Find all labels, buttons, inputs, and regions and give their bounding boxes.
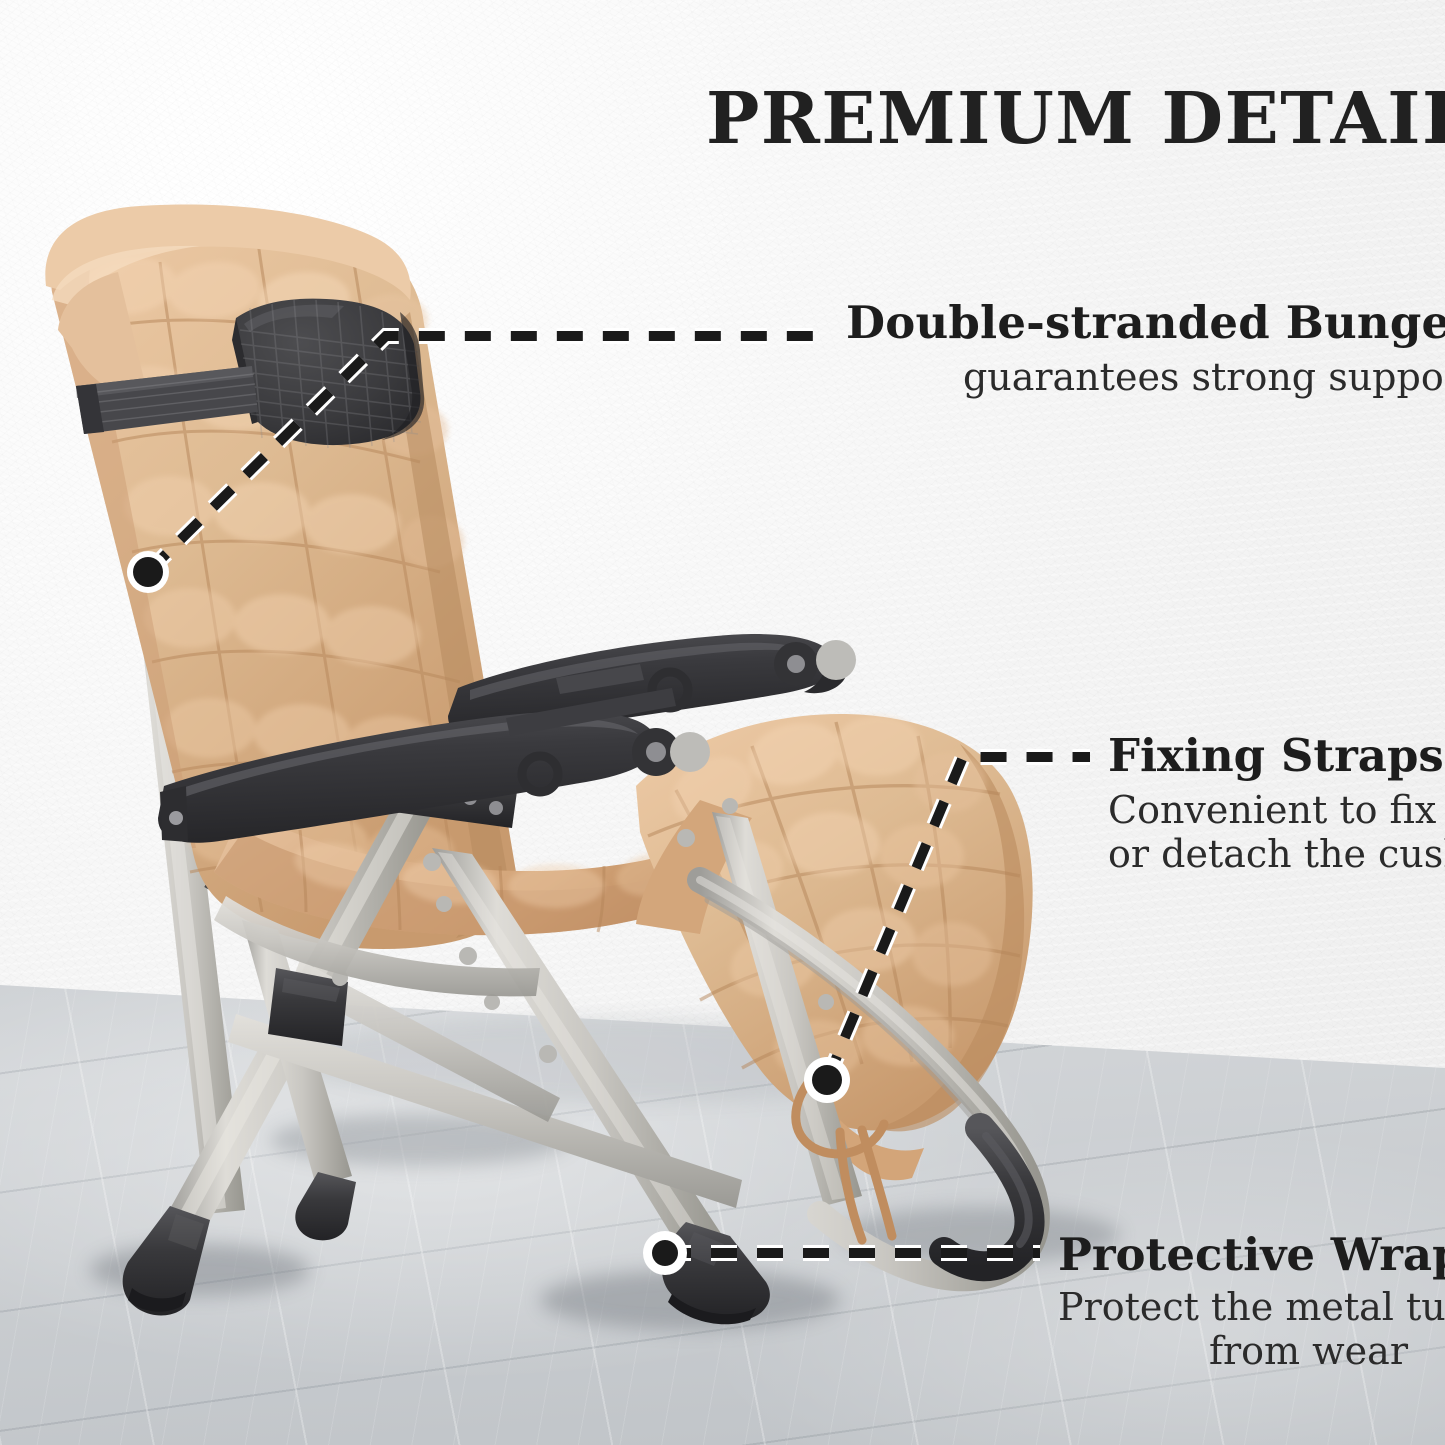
- infographic-canvas: PREMIUM DETAILS Double-stranded Bungee g…: [0, 0, 1445, 1445]
- callout-title-protective-wraps: Protective Wraps: [1058, 1232, 1408, 1279]
- callout-fixing-straps: Fixing Straps Convenient to fix or detac…: [1108, 733, 1408, 877]
- protective-foot-cap-rear-left: [295, 1172, 356, 1240]
- callout-double-stranded-bungee: Double-stranded Bungee guarantees strong…: [846, 300, 1445, 399]
- callout-subtitle-protective-wraps-line2: from wear: [1058, 1329, 1408, 1373]
- callout-subtitle-fixing-straps-line2: or detach the cushion: [1108, 832, 1408, 876]
- callout-subtitle-bungee: guarantees strong support: [846, 355, 1445, 399]
- protective-foot-cap-front: [662, 1222, 770, 1324]
- callout-title-fixing-straps: Fixing Straps: [1108, 733, 1408, 780]
- callout-subtitle-protective-wraps-line1: Protect the metal tubes: [1058, 1285, 1408, 1329]
- callout-subtitle-fixing-straps-line1: Convenient to fix: [1108, 788, 1408, 832]
- callout-title-bungee: Double-stranded Bungee: [846, 300, 1445, 347]
- headrest-pillow: [232, 299, 424, 448]
- protective-foot-cap-left: [123, 1206, 210, 1315]
- page-title: PREMIUM DETAILS: [706, 83, 1406, 154]
- callout-protective-wraps: Protective Wraps Protect the metal tubes…: [1058, 1232, 1408, 1374]
